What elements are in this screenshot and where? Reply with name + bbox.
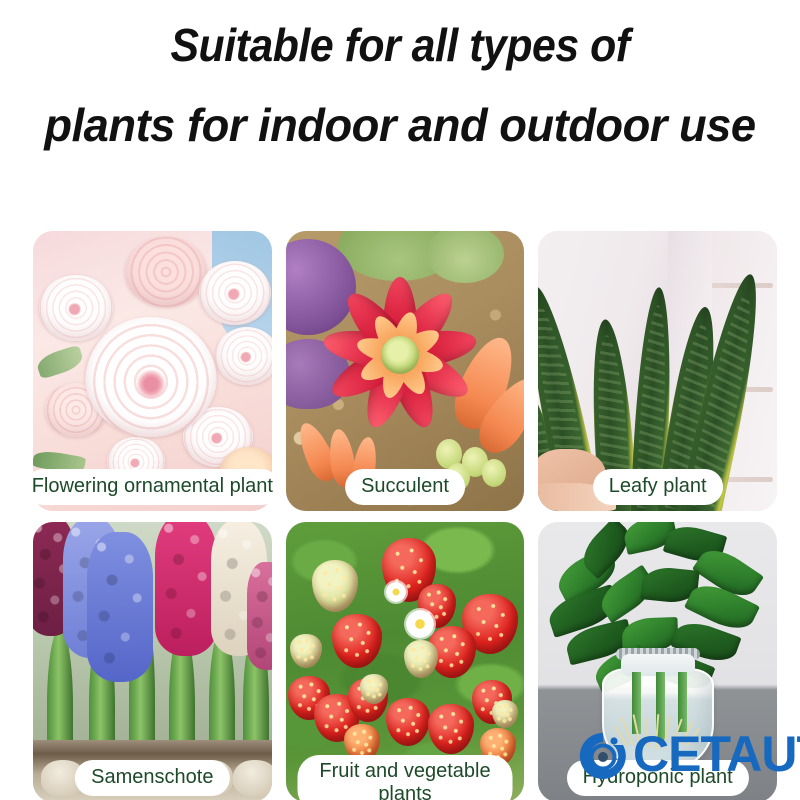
rose-bloom (125, 237, 207, 307)
page-title: Suitable for all types of plants for ind… (0, 22, 800, 148)
root (680, 721, 694, 745)
hyacinth-illustration (33, 522, 272, 800)
page-title-line-2: plants for indoor and outdoor use (6, 102, 794, 148)
tile-flowering-ornamental-plant[interactable]: Flowering ornamental plant (33, 231, 272, 511)
page-title-line-1: Suitable for all types of (28, 22, 772, 68)
root (632, 714, 641, 748)
tile-label-hydroponic-plant: Hydroponic plant (567, 760, 749, 796)
leaf-shape (35, 344, 86, 379)
tile-fruit-and-vegetable-plants[interactable]: Fruit and vegetable plants (286, 522, 525, 800)
rose-bloom (199, 261, 271, 325)
plant-type-grid: Flowering ornamental plant (33, 231, 777, 800)
hyacinth-spike-blue (87, 532, 153, 682)
tile-label-samenschote: Samenschote (75, 760, 229, 796)
tile-samenschote[interactable]: Samenschote (33, 522, 272, 800)
hyacinth-bulb (233, 760, 272, 796)
photo-hydroponic-plant (538, 522, 777, 800)
product-infographic-page: Suitable for all types of plants for ind… (0, 0, 800, 800)
strawberry-flower (406, 610, 434, 638)
tile-label-succulent: Succulent (345, 469, 465, 505)
tile-label-fruit-and-vegetable-plants: Fruit and vegetable plants (298, 755, 513, 800)
strawberry-flower (386, 582, 406, 602)
grid-row-1: Flowering ornamental plant (33, 231, 777, 511)
succulent-bud (482, 459, 506, 487)
hyacinth-spike-pink (247, 562, 272, 670)
photo-samenschote (33, 522, 272, 800)
root-cluster (616, 714, 700, 756)
hyacinth-spike-pink (155, 522, 217, 656)
tile-label-leafy-plant: Leafy plant (593, 469, 723, 505)
root (654, 714, 659, 750)
rose-bloom-main (85, 317, 217, 437)
succulent-inner-ring (352, 307, 448, 403)
tile-succulent[interactable]: Succulent (286, 231, 525, 511)
grid-row-2: Samenschote (33, 522, 777, 800)
rose-bloom (215, 327, 272, 385)
hydroponic-illustration (538, 522, 777, 800)
tile-label-flowering-ornamental-plant: Flowering ornamental plant (26, 469, 279, 505)
glass-vase (602, 668, 714, 772)
root (662, 716, 671, 748)
tile-hydroponic-plant[interactable]: Hydroponic plant (538, 522, 777, 800)
rose-bloom (39, 275, 113, 341)
red-rosette-succulent (312, 267, 488, 443)
succulent-core (381, 336, 419, 374)
root (645, 718, 649, 748)
tile-leafy-plant[interactable]: Leafy plant (538, 231, 777, 511)
